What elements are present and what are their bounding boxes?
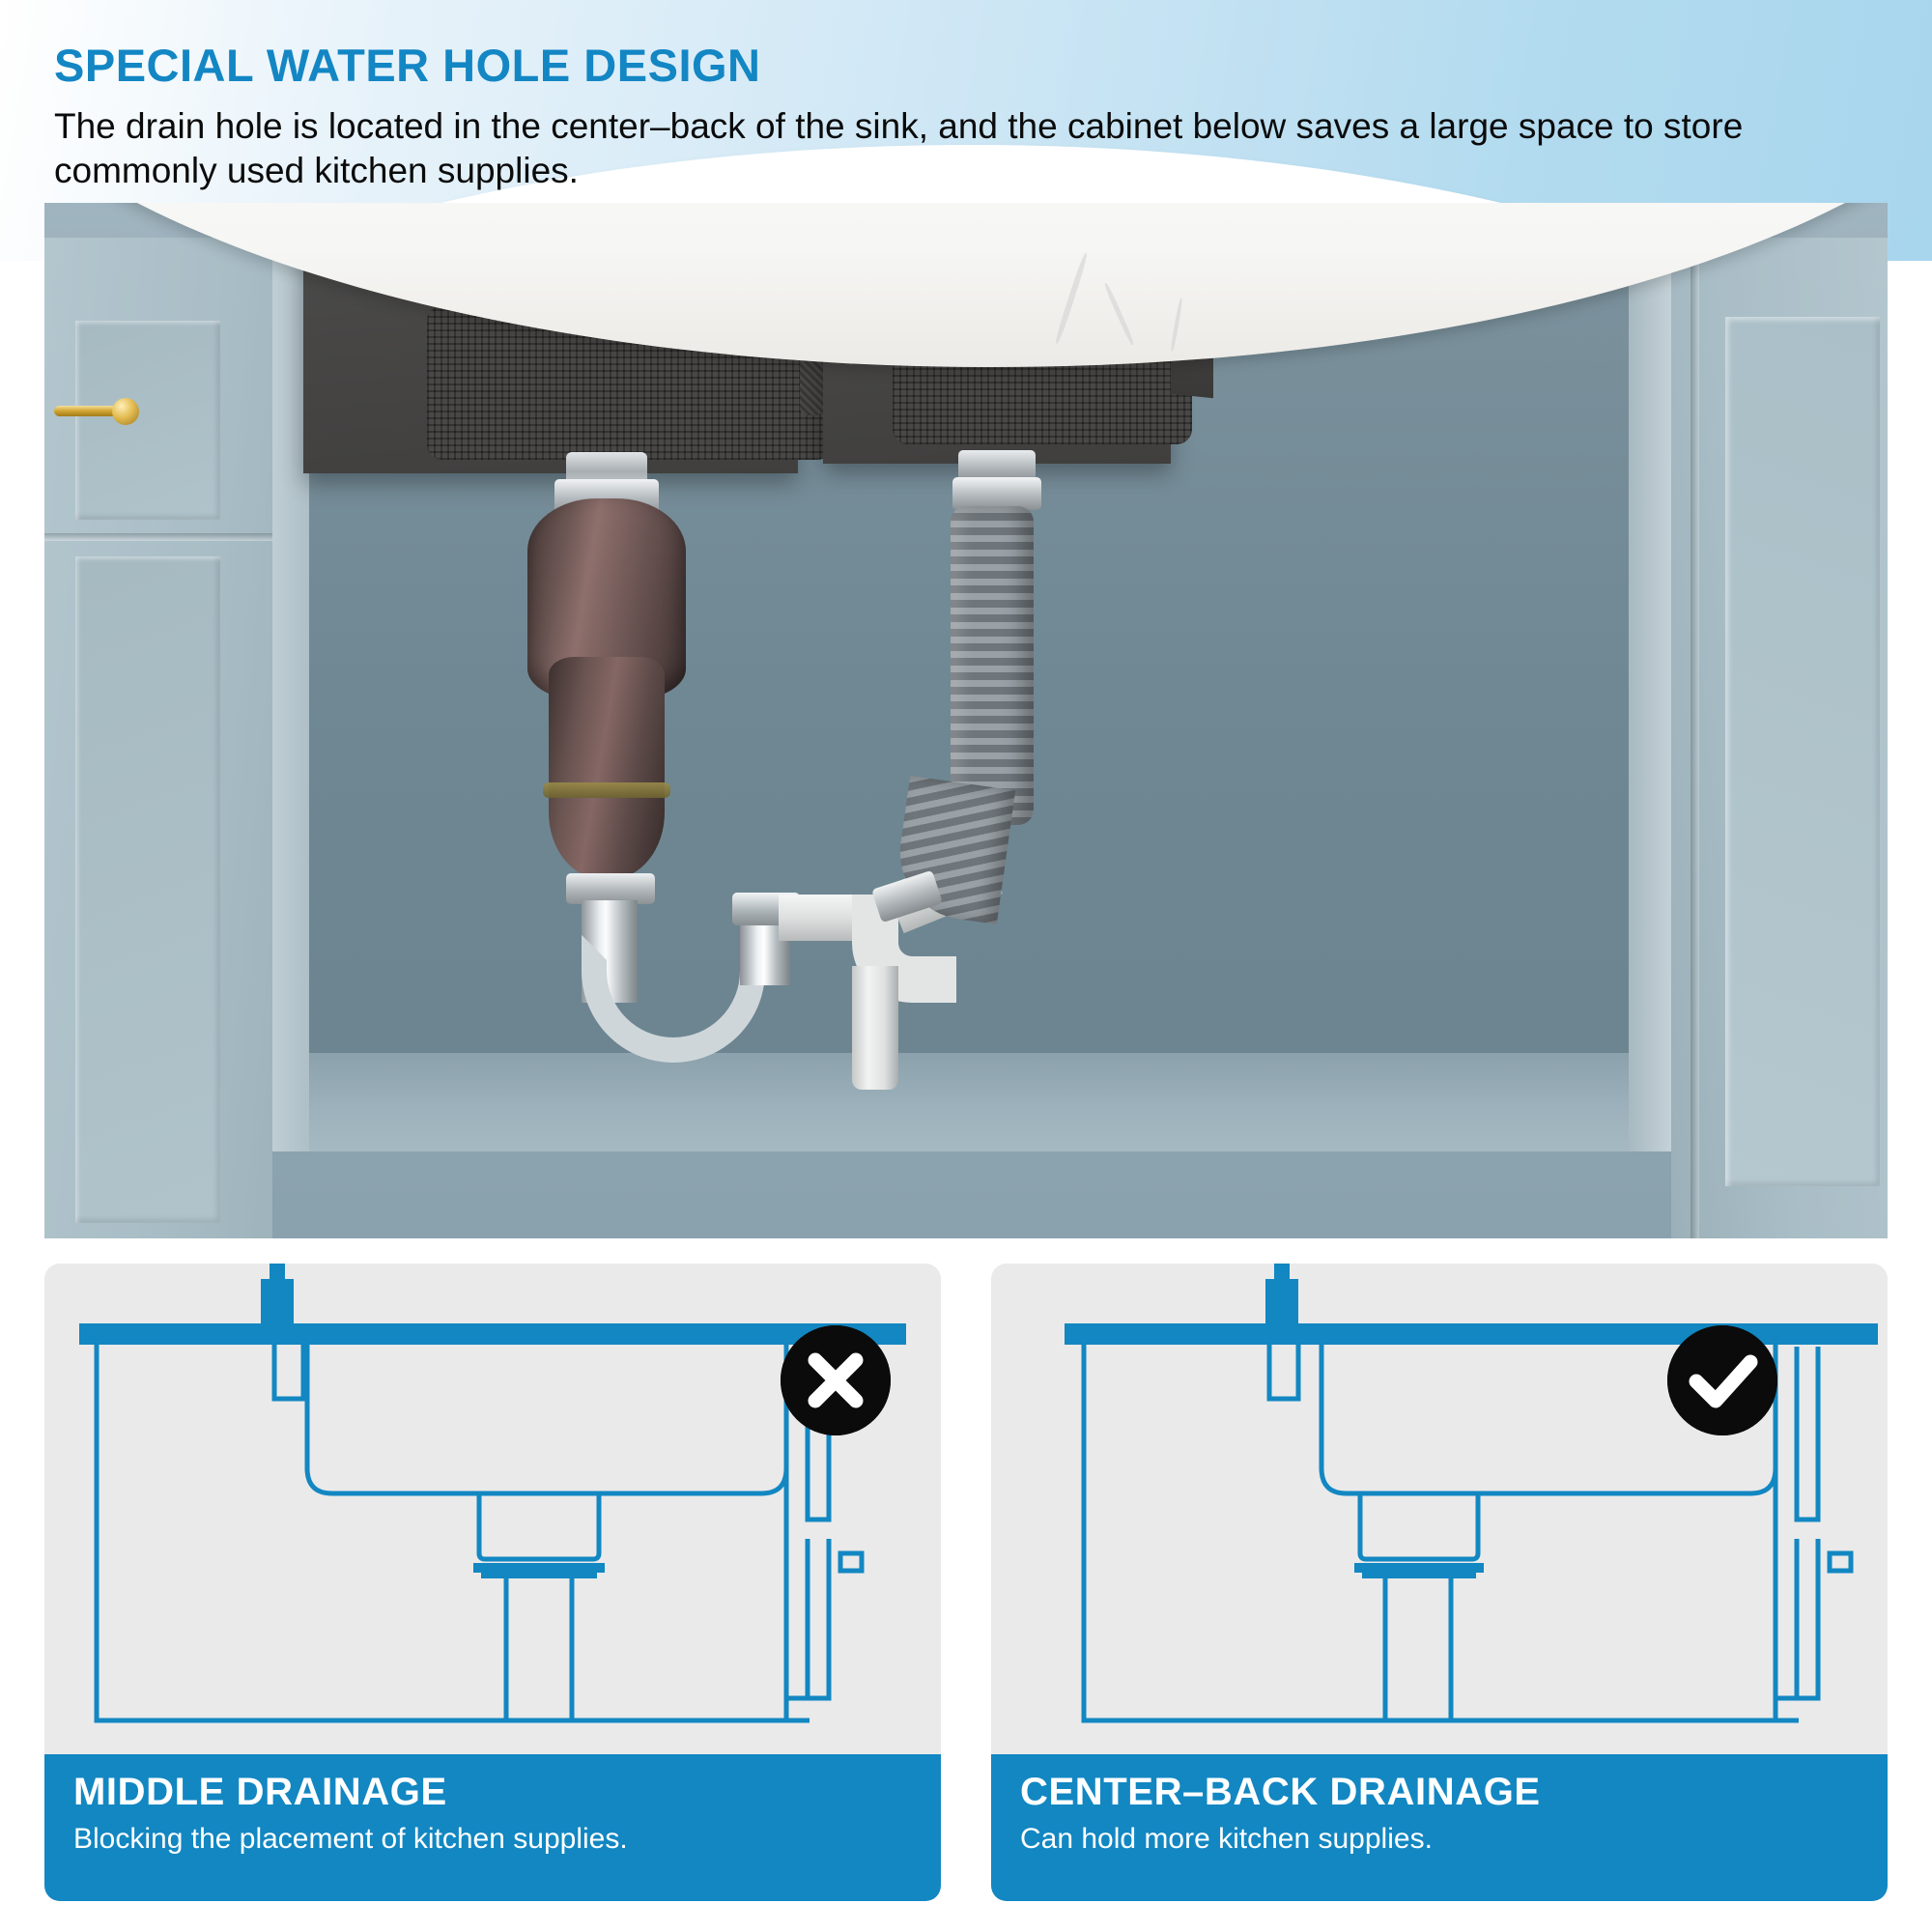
marble-vein	[1103, 282, 1135, 346]
garbage-disposal-lower	[549, 657, 665, 879]
diagram-middle-drainage	[44, 1264, 941, 1754]
card-title: CENTER–BACK DRAINAGE	[1020, 1770, 1859, 1814]
check-mark-badge	[1667, 1325, 1777, 1435]
cabinet-door-left	[44, 238, 272, 1238]
door-panel-upper	[75, 321, 220, 520]
disposal-band	[543, 782, 670, 798]
page-title: SPECIAL WATER HOLE DESIGN	[54, 39, 761, 92]
card-middle-drainage[interactable]: MIDDLE DRAINAGE Blocking the placement o…	[44, 1264, 941, 1901]
cabinet-floor	[303, 1053, 1636, 1151]
label-center-back-drainage: CENTER–BACK DRAINAGE Can hold more kitch…	[991, 1754, 1888, 1901]
door-edge	[1690, 238, 1699, 1238]
flexible-drain-hose	[951, 506, 1034, 825]
door-seam	[44, 533, 272, 541]
check-icon	[1667, 1325, 1777, 1435]
cabinet-door-right	[1671, 238, 1888, 1238]
drain-standpipe	[852, 966, 898, 1090]
marble-vein	[1170, 298, 1183, 352]
close-icon	[781, 1325, 891, 1435]
brass-handle-knob	[112, 398, 139, 425]
card-subtitle: Blocking the placement of kitchen suppli…	[73, 1822, 912, 1857]
marble-vein	[1054, 252, 1089, 344]
door-panel-right	[1725, 317, 1880, 1186]
page-subtitle: The drain hole is located in the center–…	[54, 104, 1889, 194]
x-mark-badge	[781, 1325, 891, 1435]
cabinet-right-wall	[1629, 241, 1671, 1151]
card-title: MIDDLE DRAINAGE	[73, 1770, 912, 1814]
hose-lock-nut	[952, 477, 1041, 510]
card-subtitle: Can hold more kitchen supplies.	[1020, 1822, 1859, 1857]
diagram-center-back-drainage	[991, 1264, 1888, 1754]
card-center-back-drainage[interactable]: CENTER–BACK DRAINAGE Can hold more kitch…	[991, 1264, 1888, 1901]
under-sink-photo	[44, 203, 1888, 1238]
door-panel-lower	[75, 556, 220, 1223]
label-middle-drainage: MIDDLE DRAINAGE Blocking the placement o…	[44, 1754, 941, 1901]
